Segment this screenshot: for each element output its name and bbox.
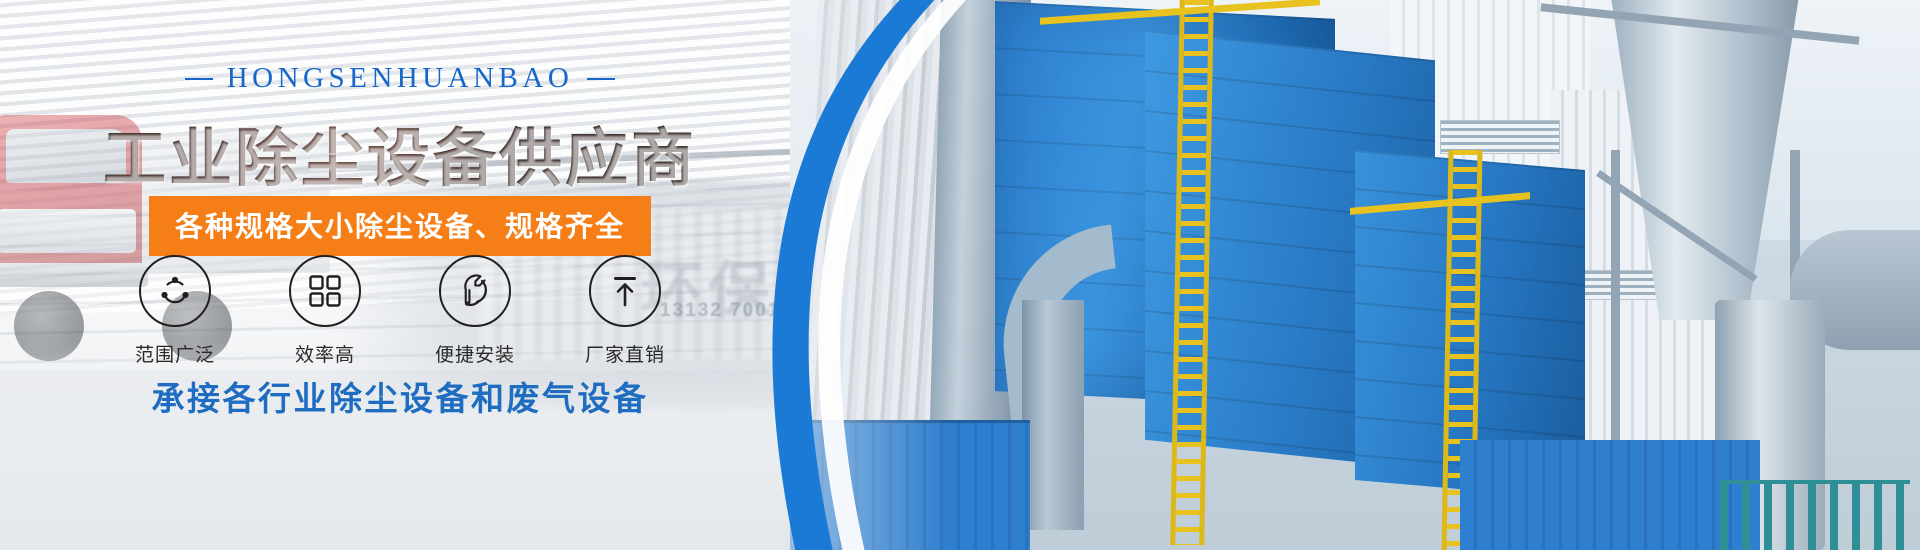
feature-icon-circle — [439, 255, 511, 327]
banner-content: HONGSENHUANBAO 工业除尘设备供应商 各种规格大小除尘设备、规格齐全… — [0, 0, 800, 550]
brand-eyebrow: HONGSENHUANBAO — [0, 62, 800, 95]
feature-label: 效率高 — [271, 340, 379, 367]
feature-item-high-efficiency[interactable]: 效率高 — [271, 255, 379, 367]
eyebrow-dash-right — [587, 78, 615, 80]
eyebrow-dash-left — [185, 78, 213, 80]
eyebrow-text: HONGSENHUANBAO — [227, 62, 574, 95]
feature-icon-circle — [139, 255, 211, 327]
share-nodes-icon — [155, 271, 195, 311]
feature-item-factory-direct[interactable]: 厂家直销 — [571, 255, 679, 367]
grid-four-squares-icon — [307, 273, 343, 309]
photo-edge-fade — [790, 0, 1920, 550]
subtitle-orange-bar: 各种规格大小除尘设备、规格齐全 — [149, 196, 651, 256]
banner-tagline: 承接各行业除尘设备和废气设备 — [0, 372, 800, 420]
feature-label: 范围广泛 — [121, 340, 229, 367]
feature-list: 范围广泛 效率高 — [0, 255, 800, 367]
feature-item-easy-install[interactable]: 便捷安装 — [421, 255, 529, 367]
hero-banner: 环保 13132 7001 — [0, 0, 1920, 550]
page-title: 工业除尘设备供应商 — [0, 108, 800, 199]
feature-label: 便捷安装 — [421, 340, 529, 367]
feature-icon-circle — [289, 255, 361, 327]
feature-label: 厂家直销 — [571, 340, 679, 367]
wrench-icon — [455, 271, 495, 311]
industrial-equipment-photo — [790, 0, 1920, 550]
arrow-up-bar-icon — [606, 272, 644, 310]
feature-icon-circle — [589, 255, 661, 327]
feature-item-wide-range[interactable]: 范围广泛 — [121, 255, 229, 367]
